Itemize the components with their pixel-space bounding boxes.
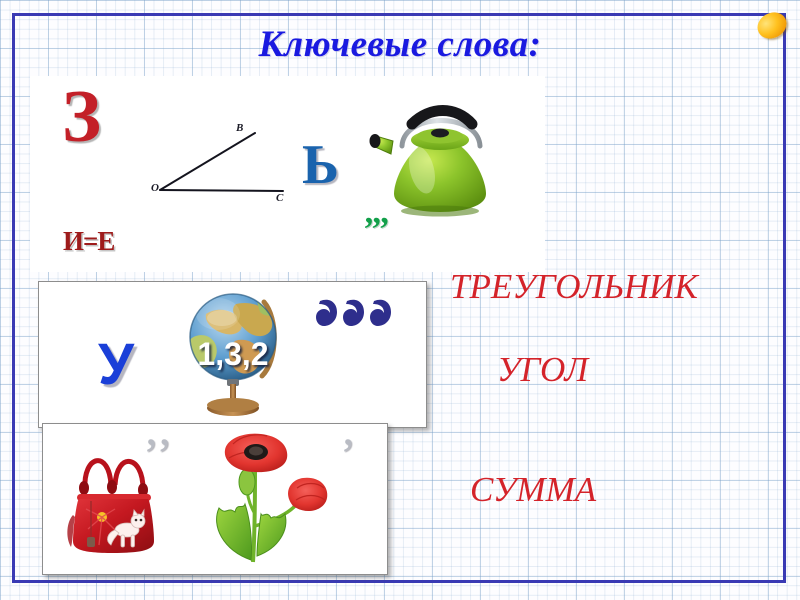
globe-image: 1,3,2	[178, 284, 288, 420]
angle-label-b: B	[236, 122, 243, 134]
kettle-svg	[360, 84, 520, 224]
slide-canvas: Ключевые слова: З O B C Ь И=Е	[0, 0, 800, 600]
answer-word-triangle: ТРЕУГОЛЬНИК	[450, 267, 698, 307]
rebus-letter-u: У	[98, 336, 134, 394]
angle-label-o: O	[151, 182, 159, 194]
navy-apostrophes	[316, 295, 396, 335]
kettle-image	[360, 84, 520, 224]
green-apostrophes: ’’’	[363, 216, 389, 244]
answer-word-angle: УГОЛ	[497, 350, 588, 390]
page-title: Ключевые слова:	[0, 23, 800, 66]
rebus-substitution-i-equals-e: И=Е	[63, 228, 114, 255]
rebus-letter-soft-sign: Ь	[302, 137, 339, 193]
globe-svg	[178, 284, 288, 420]
navy-apostrophes-svg	[316, 295, 396, 335]
poppy-svg	[193, 430, 343, 570]
angle-label-c: C	[276, 192, 283, 204]
rebus-letter-z: З	[62, 80, 101, 154]
poppy-flowers-image	[193, 430, 343, 570]
gray-apostrophes-left: ’’	[143, 434, 173, 478]
answer-word-sum: СУММА	[470, 470, 596, 510]
angle-diagram: O B C	[150, 110, 300, 210]
gray-apostrophes-right: ’	[340, 434, 356, 478]
